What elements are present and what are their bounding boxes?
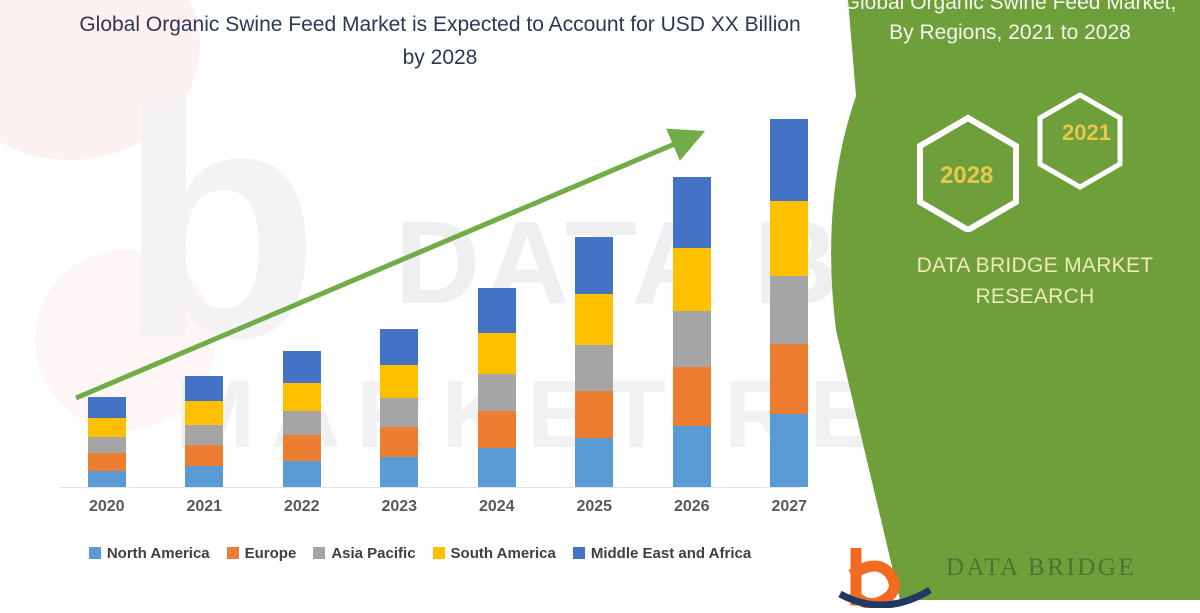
bar-segment-middle-east-and-africa [283, 351, 321, 383]
bar-segment-south-america [185, 401, 223, 424]
bar-segment-europe [380, 427, 418, 456]
bar-segment-south-america [88, 418, 126, 437]
plot-area [40, 100, 820, 490]
x-axis-labels: 20202021202220232024202520262027 [40, 498, 820, 522]
legend-swatch-icon [433, 547, 445, 559]
brand-line-1: DATA BRIDGE MARKET [917, 254, 1154, 277]
bar-segment-south-america [380, 365, 418, 398]
bar-segment-north-america [185, 466, 223, 487]
bar-segment-north-america [575, 438, 613, 487]
infographic-root: b DATA BRIDGE MARKET RESEARCH Global Org… [0, 0, 1200, 600]
x-axis-label-2022: 2022 [262, 498, 342, 516]
bar-segment-middle-east-and-africa [478, 288, 516, 334]
bar-segment-asia-pacific [380, 398, 418, 427]
bar-segment-middle-east-and-africa [380, 329, 418, 365]
bar-segment-europe [673, 367, 711, 426]
legend-label: North America [107, 545, 210, 562]
legend-item-south-america[interactable]: South America [433, 545, 556, 562]
branding-title-line1: Global Organic Swine Feed Market, [844, 0, 1177, 14]
bar-2023[interactable] [380, 329, 418, 487]
bar-2024[interactable] [478, 288, 516, 487]
bar-segment-asia-pacific [575, 345, 613, 391]
legend-item-north-america[interactable]: North America [89, 545, 210, 562]
hexagon-group: 2021 2028 [910, 92, 1140, 232]
legend-swatch-icon [313, 547, 325, 559]
bar-segment-europe [575, 391, 613, 438]
databridge-logo-text: DATA BRIDGE [946, 554, 1136, 582]
brand-name: DATA BRIDGE MARKET RESEARCH [870, 250, 1200, 312]
legend-swatch-icon [227, 547, 239, 559]
bar-segment-middle-east-and-africa [88, 397, 126, 418]
branding-panel: Global Organic Swine Feed Market, By Reg… [760, 0, 1200, 600]
legend-label: Middle East and Africa [591, 545, 751, 562]
x-axis-label-2026: 2026 [652, 498, 732, 516]
databridge-logo: DATA BRIDGE [838, 548, 1138, 608]
legend-label: South America [451, 545, 556, 562]
x-axis-label-2023: 2023 [359, 498, 439, 516]
legend-item-middle-east-and-africa[interactable]: Middle East and Africa [573, 545, 751, 562]
bar-segment-north-america [673, 426, 711, 487]
bar-segment-asia-pacific [478, 374, 516, 410]
bar-segment-europe [478, 411, 516, 449]
x-axis-label-2025: 2025 [554, 498, 634, 516]
chart-title: Global Organic Swine Feed Market is Expe… [70, 8, 810, 74]
stacked-bars [40, 100, 820, 487]
brand-line-2: RESEARCH [975, 285, 1094, 308]
bar-segment-south-america [575, 294, 613, 346]
legend-swatch-icon [573, 547, 585, 559]
bar-2026[interactable] [673, 177, 711, 487]
legend-label: Europe [245, 545, 297, 562]
bar-segment-asia-pacific [185, 425, 223, 445]
branding-title: Global Organic Swine Feed Market, By Reg… [820, 0, 1200, 48]
bar-segment-europe [88, 453, 126, 471]
chart-panel: b DATA BRIDGE MARKET RESEARCH Global Org… [0, 0, 880, 600]
bar-2022[interactable] [283, 351, 321, 487]
branding-title-line2: By Regions, 2021 to 2028 [889, 21, 1131, 44]
bar-2025[interactable] [575, 237, 613, 487]
legend-label: Asia Pacific [331, 545, 415, 562]
bar-segment-middle-east-and-africa [575, 237, 613, 293]
x-axis-label-2024: 2024 [457, 498, 537, 516]
x-axis-label-2021: 2021 [164, 498, 244, 516]
bar-segment-south-america [478, 333, 516, 374]
bar-segment-north-america [380, 457, 418, 487]
bar-2020[interactable] [88, 397, 126, 487]
hexagon-label-2021: 2021 [1062, 120, 1111, 146]
bar-segment-north-america [478, 448, 516, 487]
bar-segment-asia-pacific [283, 411, 321, 436]
bar-segment-south-america [283, 383, 321, 411]
bar-segment-asia-pacific [673, 311, 711, 367]
bar-segment-north-america [88, 471, 126, 487]
bar-segment-middle-east-and-africa [673, 177, 711, 247]
bar-segment-south-america [673, 248, 711, 311]
bar-segment-europe [283, 435, 321, 461]
legend-swatch-icon [89, 547, 101, 559]
bar-segment-europe [185, 445, 223, 466]
legend-item-asia-pacific[interactable]: Asia Pacific [313, 545, 415, 562]
bar-segment-north-america [283, 461, 321, 487]
bar-2021[interactable] [185, 376, 223, 487]
bar-segment-asia-pacific [88, 437, 126, 453]
hexagon-label-2028: 2028 [940, 162, 993, 190]
bar-segment-middle-east-and-africa [185, 376, 223, 402]
chart-legend: North AmericaEuropeAsia PacificSouth Ame… [40, 540, 800, 566]
branding-content: Global Organic Swine Feed Market, By Reg… [760, 0, 1200, 600]
x-axis-label-2020: 2020 [67, 498, 147, 516]
x-axis-line [60, 487, 800, 488]
legend-item-europe[interactable]: Europe [227, 545, 297, 562]
